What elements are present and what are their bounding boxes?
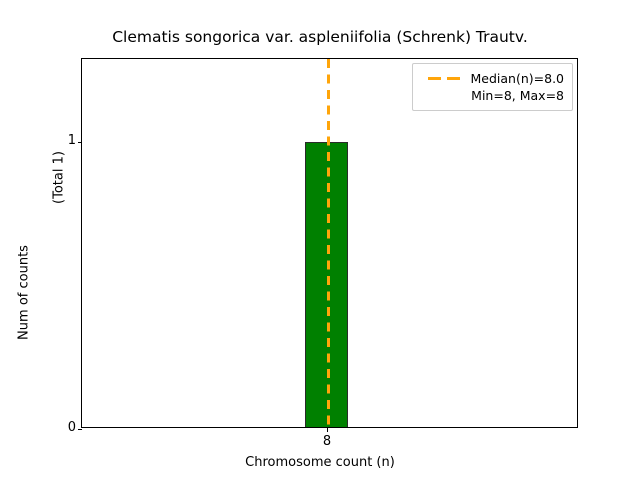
plot-area: Median(n)=8.0 Min=8, Max=8 bbox=[81, 58, 578, 428]
legend-label-range: Min=8, Max=8 bbox=[471, 87, 564, 104]
y-axis-label-main: Num of counts bbox=[17, 228, 32, 358]
figure-canvas: Clematis songorica var. aspleniifolia (S… bbox=[0, 0, 640, 480]
dashed-line-swatch-icon bbox=[428, 70, 462, 87]
xtick-label-8: 8 bbox=[297, 434, 357, 449]
median-line bbox=[327, 59, 330, 427]
y-axis-label-total: (Total 1) bbox=[52, 113, 67, 243]
ytick-label-0: 0 bbox=[36, 421, 76, 434]
ytick-mark-0 bbox=[78, 429, 82, 430]
legend-row-range: Min=8, Max=8 bbox=[420, 87, 564, 104]
xtick-mark-8 bbox=[327, 428, 328, 432]
legend-row-median: Median(n)=8.0 bbox=[420, 70, 564, 87]
legend-box[interactable]: Median(n)=8.0 Min=8, Max=8 bbox=[412, 63, 573, 111]
plot-clip-region bbox=[82, 59, 577, 427]
x-axis-label: Chromosome count (n) bbox=[0, 455, 640, 470]
chart-title: Clematis songorica var. aspleniifolia (S… bbox=[0, 28, 640, 46]
legend-label-median: Median(n)=8.0 bbox=[471, 70, 565, 87]
